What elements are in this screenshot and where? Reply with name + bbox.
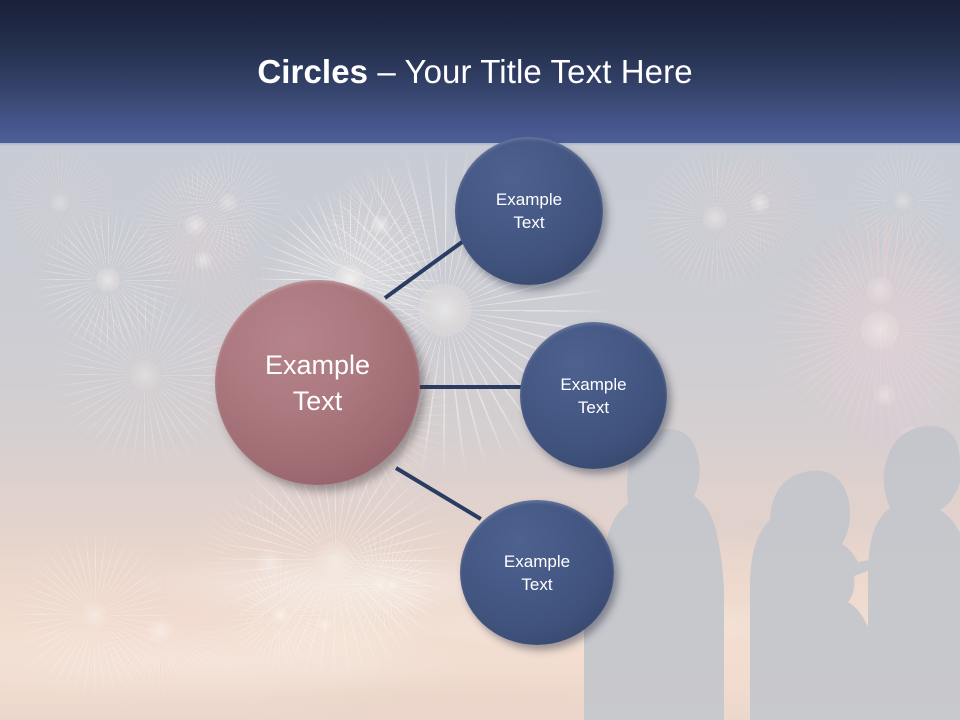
presentation-slide: Circles – Your Title Text Here Example T… [0,0,960,720]
center-node-label: Example Text [223,347,412,419]
connector-center-to-bottom [395,466,482,520]
circles-diagram: Example Text Example Text Example Text E… [0,0,960,720]
center-node[interactable]: Example Text [215,280,420,485]
connector-center-to-middle [419,385,526,389]
satellite-node-top-label: Example Text [461,188,597,234]
satellite-node-top[interactable]: Example Text [455,137,603,285]
satellite-node-bottom[interactable]: Example Text [460,500,614,645]
satellite-node-middle[interactable]: Example Text [520,322,667,469]
connector-center-to-top [384,240,464,300]
satellite-node-bottom-label: Example Text [466,550,608,596]
satellite-node-middle-label: Example Text [526,373,661,419]
